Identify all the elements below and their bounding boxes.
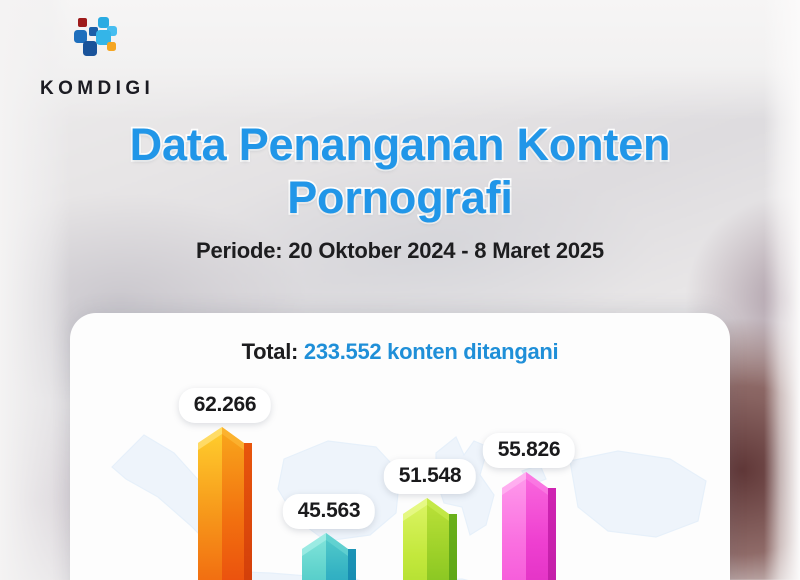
komdigi-blocks-icon <box>63 16 125 64</box>
bar-group-3: 51.548 <box>403 498 457 580</box>
bar-value-label-1: 62.266 <box>179 388 271 423</box>
bar-1 <box>198 427 252 580</box>
page-title-line2: Pornografi <box>0 171 800 224</box>
background-right-wash <box>764 0 800 580</box>
page-title: Data Penanganan Konten Pornografi <box>0 118 800 224</box>
period-subtitle: Periode: 20 Oktober 2024 - 8 Maret 2025 <box>0 238 800 264</box>
page-title-line1: Data Penanganan Konten <box>0 118 800 171</box>
stats-card: Total: 233.552 konten ditangani <box>70 313 730 580</box>
bar-group-1: 62.266 <box>198 427 252 580</box>
bar-group-4: 55.826 <box>502 472 556 580</box>
total-summary: Total: 233.552 konten ditangani <box>70 339 730 365</box>
bar-value-label-2: 45.563 <box>283 494 375 529</box>
bar-group-2: 45.563 <box>302 533 356 580</box>
total-value: 233.552 konten ditangani <box>304 339 558 364</box>
bar-3 <box>403 498 457 580</box>
bar-chart: 62.266 <box>70 375 730 580</box>
komdigi-logo: KOMDIGI <box>40 16 170 96</box>
total-label: Total: <box>242 339 298 364</box>
bar-value-label-4: 55.826 <box>483 433 575 468</box>
komdigi-wordmark: KOMDIGI <box>40 78 154 100</box>
bar-4 <box>502 472 556 580</box>
bar-value-label-3: 51.548 <box>384 459 476 494</box>
bar-2 <box>302 533 356 580</box>
